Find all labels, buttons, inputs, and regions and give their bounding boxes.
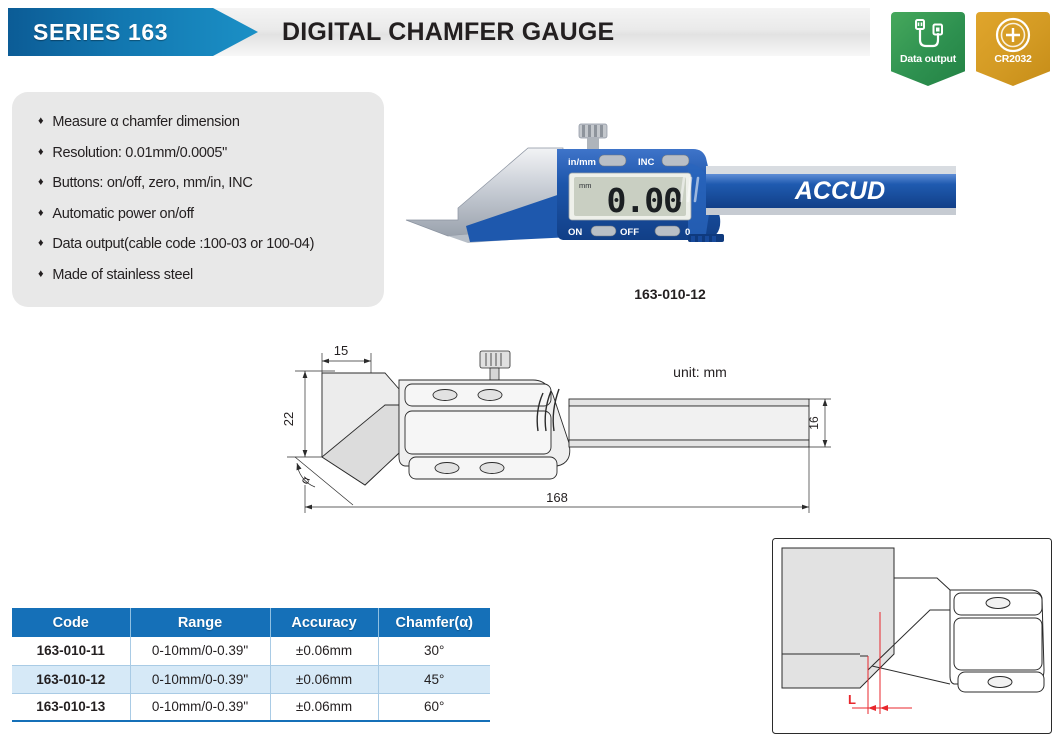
feature-text: Measure α chamfer dimension <box>52 114 239 130</box>
feature-text: Automatic power on/off <box>52 206 193 222</box>
cell-accuracy: ±0.06mm <box>270 665 378 693</box>
diamond-bullet-icon: ♦ <box>38 175 43 191</box>
diamond-bullet-icon: ♦ <box>38 145 43 161</box>
feature-text: Data output(cable code :100-03 or 100-04… <box>52 236 314 252</box>
list-item: ♦ Made of stainless steel <box>38 267 384 283</box>
cell-range: 0-10mm/0-0.39" <box>130 637 270 665</box>
photo-button-label-off: OFF <box>620 227 639 238</box>
table-row[interactable]: 163-010-12 0-10mm/0-0.39" ±0.06mm 45° <box>12 665 490 693</box>
table-row[interactable]: 163-010-11 0-10mm/0-0.39" ±0.06mm 30° <box>12 637 490 665</box>
cell-code: 163-010-13 <box>12 693 130 721</box>
application-diagram: L <box>772 538 1052 734</box>
diamond-bullet-icon: ♦ <box>38 267 43 283</box>
lcd-unit-label: mm <box>579 181 592 190</box>
dim-jaw-width: 15 <box>334 343 348 358</box>
list-item: ♦ Data output(cable code :100-03 or 100-… <box>38 236 384 252</box>
technical-drawing: 15 22 α <box>275 335 845 525</box>
dim-height: 22 <box>281 412 296 426</box>
badge-data-output: Data output <box>891 12 965 86</box>
feature-text: Buttons: on/off, zero, mm/in, INC <box>52 175 252 191</box>
cell-range: 0-10mm/0-0.39" <box>130 693 270 721</box>
cell-chamfer: 30° <box>378 637 490 665</box>
table-header-row: Code Range Accuracy Chamfer(α) <box>12 608 490 637</box>
lcd-value: 0.00 <box>607 181 682 220</box>
spec-table: Code Range Accuracy Chamfer(α) 163-010-1… <box>12 608 490 722</box>
list-item: ♦ Measure α chamfer dimension <box>38 114 384 130</box>
feature-list: ♦ Measure α chamfer dimension ♦ Resoluti… <box>12 92 384 307</box>
diamond-bullet-icon: ♦ <box>38 236 43 252</box>
dim-beam-thickness: 16 <box>807 416 821 430</box>
col-header-code: Code <box>12 608 130 637</box>
cell-accuracy: ±0.06mm <box>270 693 378 721</box>
photo-button-label-inmm: in/mm <box>568 157 596 168</box>
series-tag: SERIES 163 <box>8 8 258 56</box>
badge-cr2032: CR2032 <box>976 12 1050 86</box>
list-item: ♦ Buttons: on/off, zero, mm/in, INC <box>38 175 384 191</box>
photo-button-label-inc: INC <box>638 157 655 168</box>
col-header-chamfer: Chamfer(α) <box>378 608 490 637</box>
col-header-range: Range <box>130 608 270 637</box>
cell-chamfer: 60° <box>378 693 490 721</box>
product-photo: in/mm INC mm 0.00 ON OFF 0 <box>388 108 968 278</box>
unit-note: unit: mm <box>673 364 727 380</box>
col-header-accuracy: Accuracy <box>270 608 378 637</box>
dim-label-L: L <box>848 692 856 707</box>
feature-badges: Data output CR2032 <box>891 12 1050 86</box>
cell-range: 0-10mm/0-0.39" <box>130 665 270 693</box>
feature-text: Resolution: 0.01mm/0.0005" <box>52 145 227 161</box>
dim-angle: α <box>297 474 313 487</box>
badge-label-data-output: Data output <box>900 54 956 65</box>
table-row[interactable]: 163-010-13 0-10mm/0-0.39" ±0.06mm 60° <box>12 693 490 721</box>
coin-battery-icon <box>993 12 1033 54</box>
diamond-bullet-icon: ♦ <box>38 206 43 222</box>
photo-button-label-on: ON <box>568 227 582 238</box>
cell-code: 163-010-12 <box>12 665 130 693</box>
usb-cable-icon <box>911 12 945 54</box>
cell-code: 163-010-11 <box>12 637 130 665</box>
catalog-page: SERIES 163 DIGITAL CHAMFER GAUGE Data ou… <box>0 0 1060 741</box>
feature-text: Made of stainless steel <box>52 267 193 283</box>
series-label: SERIES 163 <box>8 19 168 46</box>
dim-total-length: 168 <box>546 490 568 505</box>
brand-logo-text: ACCUD <box>794 177 885 205</box>
badge-label-cr2032: CR2032 <box>994 54 1031 65</box>
list-item: ♦ Automatic power on/off <box>38 206 384 222</box>
page-title: DIGITAL CHAMFER GAUGE <box>282 8 614 56</box>
page-header: SERIES 163 DIGITAL CHAMFER GAUGE Data ou… <box>0 8 1060 66</box>
cell-chamfer: 45° <box>378 665 490 693</box>
list-item: ♦ Resolution: 0.01mm/0.0005" <box>38 145 384 161</box>
cell-accuracy: ±0.06mm <box>270 637 378 665</box>
diamond-bullet-icon: ♦ <box>38 114 43 130</box>
product-photo-caption: 163-010-12 <box>560 286 780 302</box>
